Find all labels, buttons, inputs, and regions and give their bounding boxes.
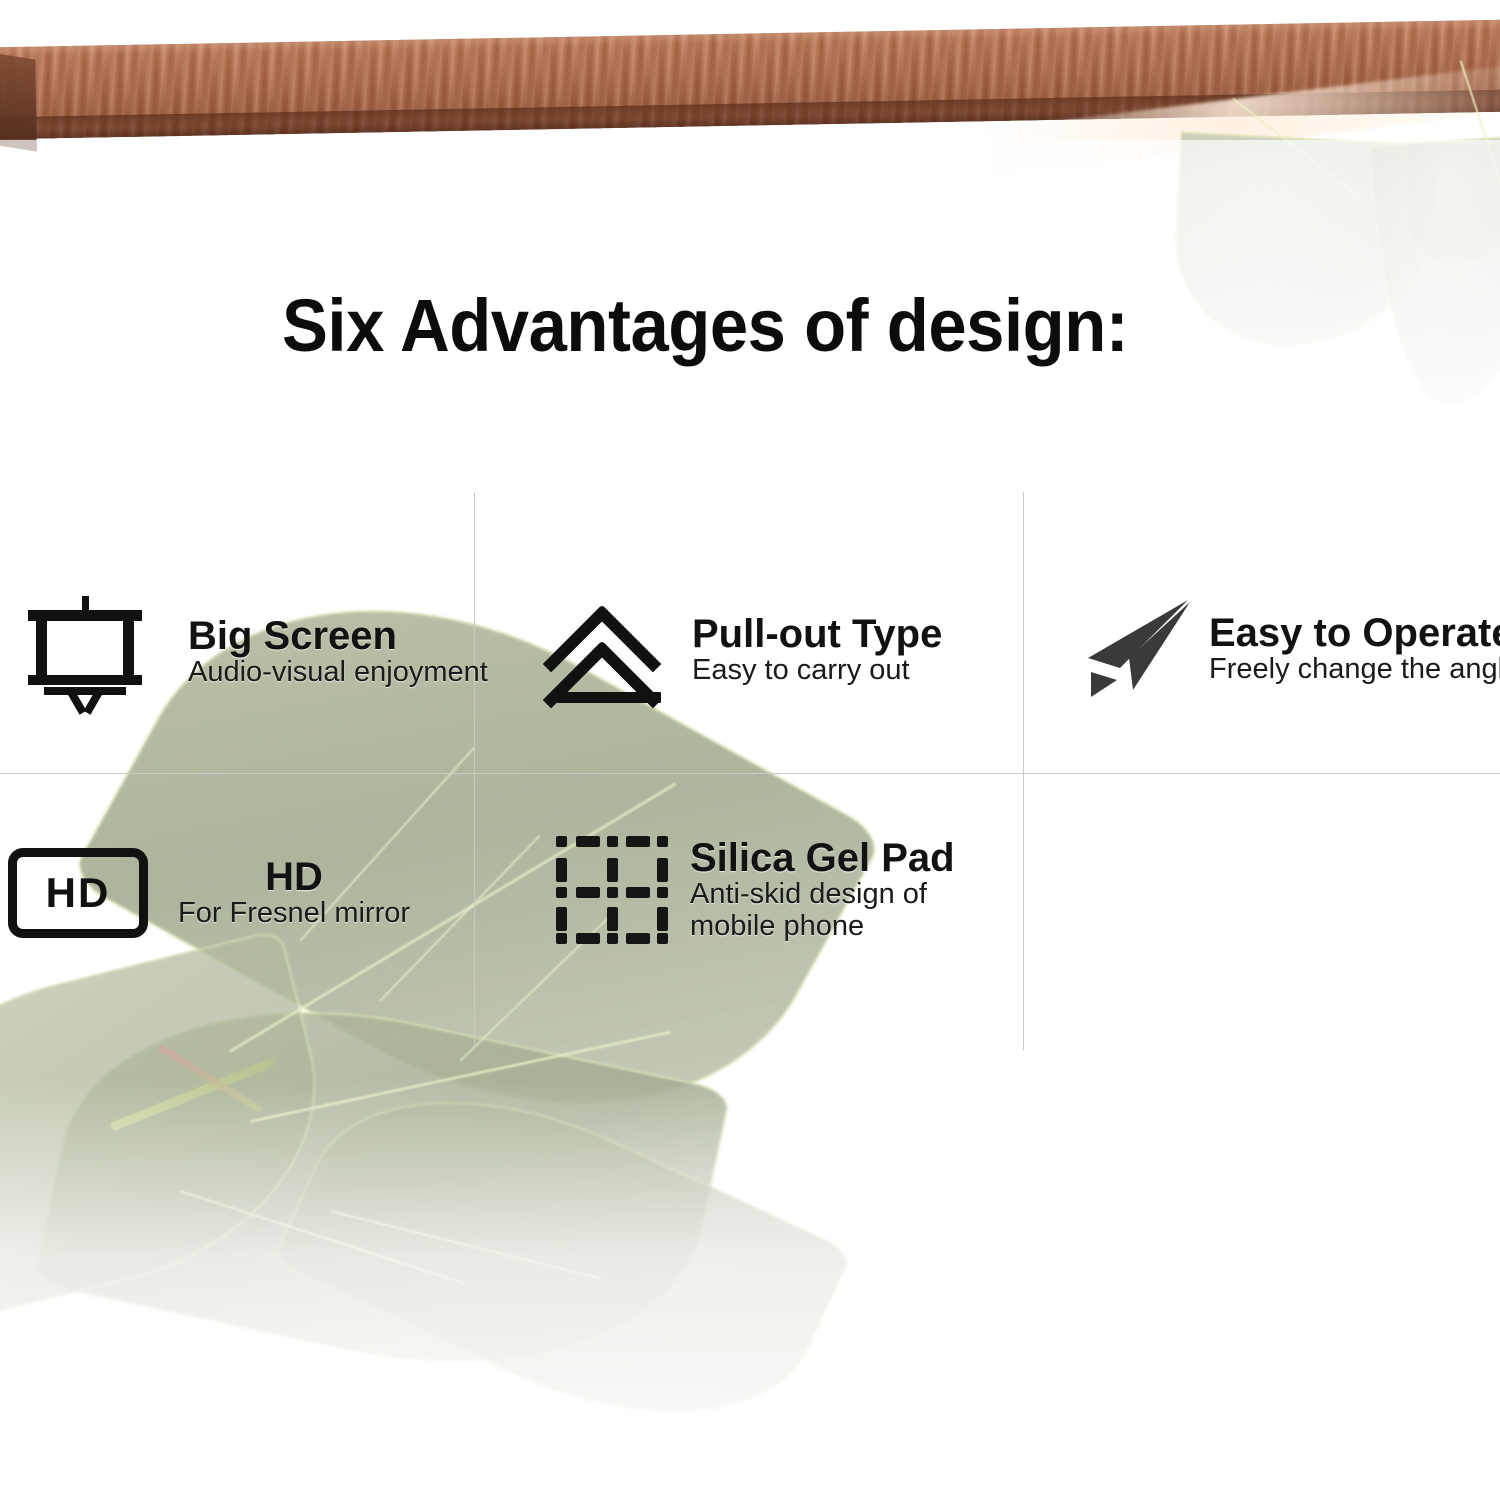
feature-icon-wrap: HD xyxy=(8,848,148,938)
grid-divider-vertical-right xyxy=(1023,492,1024,1050)
feature-subtitle: Anti-skid design of xyxy=(690,878,955,910)
feature-text-block: Big Screen Audio-visual enjoyment xyxy=(188,616,488,688)
feature-icon-wrap xyxy=(22,596,148,708)
feature-title: HD xyxy=(265,857,323,897)
feature-icon-wrap xyxy=(556,836,668,944)
paper-plane-icon xyxy=(1085,596,1195,702)
feature-subtitle: Freely change the angle xyxy=(1209,653,1500,685)
feature-subtitle-line2: mobile phone xyxy=(690,910,955,942)
feature-text-block: HD For Fresnel mirror xyxy=(178,857,410,929)
double-chevron-up-icon xyxy=(548,596,670,704)
feature-item-easy-to-operate[interactable]: Easy to Operate Freely change the angle xyxy=(1085,596,1500,702)
feature-title: Big Screen xyxy=(188,616,488,656)
feature-icon-wrap xyxy=(1085,596,1195,702)
hd-badge-label: HD xyxy=(46,872,111,914)
feature-item-silica-gel-pad[interactable]: Silica Gel Pad Anti-skid design of mobil… xyxy=(556,836,955,944)
page-title: Six Advantages of design: xyxy=(282,283,1128,368)
feature-subtitle: Audio-visual enjoyment xyxy=(188,656,488,688)
feature-text-block: Pull-out Type Easy to carry out xyxy=(692,614,942,686)
dashed-grid-icon xyxy=(556,836,668,944)
feature-item-big-screen[interactable]: Big Screen Audio-visual enjoyment xyxy=(22,596,488,708)
feature-title: Easy to Operate xyxy=(1209,613,1500,653)
infographic-canvas: Six Advantages of design: Big Screen Aud… xyxy=(0,0,1500,1500)
feature-item-hd[interactable]: HD HD For Fresnel mirror xyxy=(8,848,410,938)
feature-item-pull-out-type[interactable]: Pull-out Type Easy to carry out xyxy=(548,596,942,704)
feature-subtitle: Easy to carry out xyxy=(692,654,942,686)
feature-subtitle: For Fresnel mirror xyxy=(178,897,410,929)
feature-title: Pull-out Type xyxy=(692,614,942,654)
grid-divider-vertical-left xyxy=(474,492,475,1050)
hd-badge-icon: HD xyxy=(8,848,148,938)
feature-text-block: Silica Gel Pad Anti-skid design of mobil… xyxy=(690,838,955,943)
feature-icon-wrap xyxy=(548,596,670,704)
content-layer: Six Advantages of design: Big Screen Aud… xyxy=(0,0,1500,1500)
grid-divider-horizontal xyxy=(0,773,1500,774)
feature-title: Silica Gel Pad xyxy=(690,838,955,878)
projector-screen-icon xyxy=(22,596,148,708)
feature-text-block: Easy to Operate Freely change the angle xyxy=(1209,613,1500,685)
